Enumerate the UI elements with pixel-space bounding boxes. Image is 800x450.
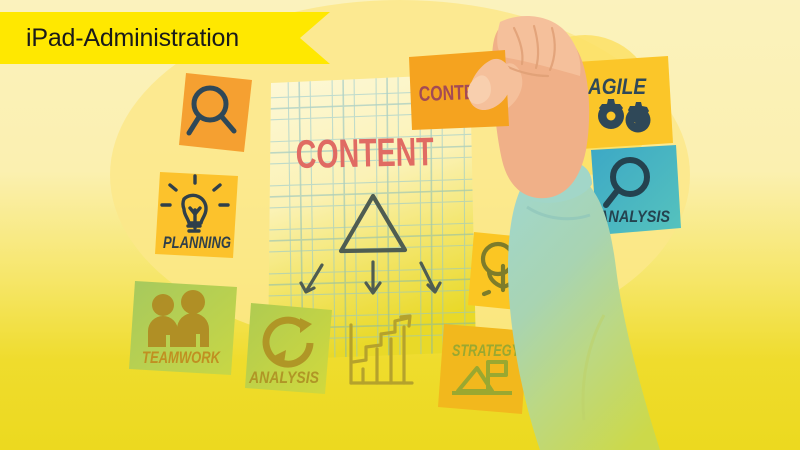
note-analysis-right-label: ANALYSIS — [597, 207, 670, 226]
content-strategy-illustration: CONTENT — [0, 0, 800, 450]
note-analysis-left-label: ANALYSIS — [248, 368, 319, 387]
paper-heading: CONTENT — [295, 130, 434, 177]
note-agile-label: AGILE — [587, 74, 647, 99]
note-teamwork-label: TEAMWORK — [142, 348, 221, 367]
page-title: iPad-Administration — [26, 12, 239, 64]
title-ribbon: iPad-Administration — [0, 12, 330, 64]
note-planning: PLANNING — [155, 172, 238, 258]
note-strategy-label: STRATEGY — [452, 341, 521, 360]
note-planning-label: PLANNING — [163, 233, 231, 252]
note-agile: AGILE — [576, 56, 673, 149]
note-analysis-left: ANALYSIS — [245, 303, 332, 394]
illustration-canvas: CONTENT — [0, 0, 800, 450]
note-teamwork: TEAMWORK — [129, 281, 237, 375]
note-search — [179, 73, 252, 152]
